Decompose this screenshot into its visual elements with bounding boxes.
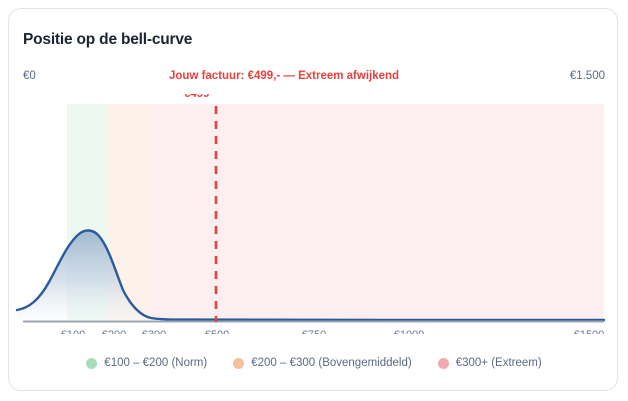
- legend-item-bovengemiddeld: €200 – €300 (Bovengemiddeld): [233, 357, 411, 369]
- scale-min-label: €0: [23, 70, 36, 82]
- bell-curve-plot: €499 €100 €200: [9, 94, 618, 334]
- legend-item-extreem: €300+ (Extreem): [438, 357, 542, 369]
- x-tick-label: €1000: [394, 329, 425, 334]
- x-tick-label: €1500: [574, 329, 605, 334]
- legend-item-label: €100 – €200 (Norm): [104, 357, 207, 369]
- legend-item-norm: €100 – €200 (Norm): [86, 357, 207, 369]
- bell-curve-svg: €100 €200 €300 €500 €750 €1000 €1500: [9, 94, 618, 334]
- invoice-callout-label: Jouw factuur: €499,- — Extreem afwijkend: [169, 70, 399, 82]
- x-tick-label: €750: [302, 329, 326, 334]
- page-title: Positie op de bell-curve: [23, 31, 192, 49]
- legend-dot-icon: [233, 358, 244, 369]
- legend-dot-icon: [86, 358, 97, 369]
- legend-dot-icon: [438, 358, 449, 369]
- x-tick-label: €100: [61, 329, 85, 334]
- x-tick-label: €300: [142, 329, 166, 334]
- bell-curve-card: Positie op de bell-curve €0 Jouw factuur…: [8, 8, 618, 391]
- legend-item-label: €300+ (Extreem): [456, 357, 542, 369]
- scale-max-label: €1.500: [570, 70, 605, 82]
- legend-item-label: €200 – €300 (Bovengemiddeld): [251, 357, 411, 369]
- chart-legend: €100 – €200 (Norm) €200 – €300 (Bovengem…: [9, 357, 618, 369]
- scale-header-row: €0 Jouw factuur: €499,- — Extreem afwijk…: [9, 67, 618, 89]
- x-tick-label: €500: [205, 329, 229, 334]
- x-tick-label: €200: [102, 329, 126, 334]
